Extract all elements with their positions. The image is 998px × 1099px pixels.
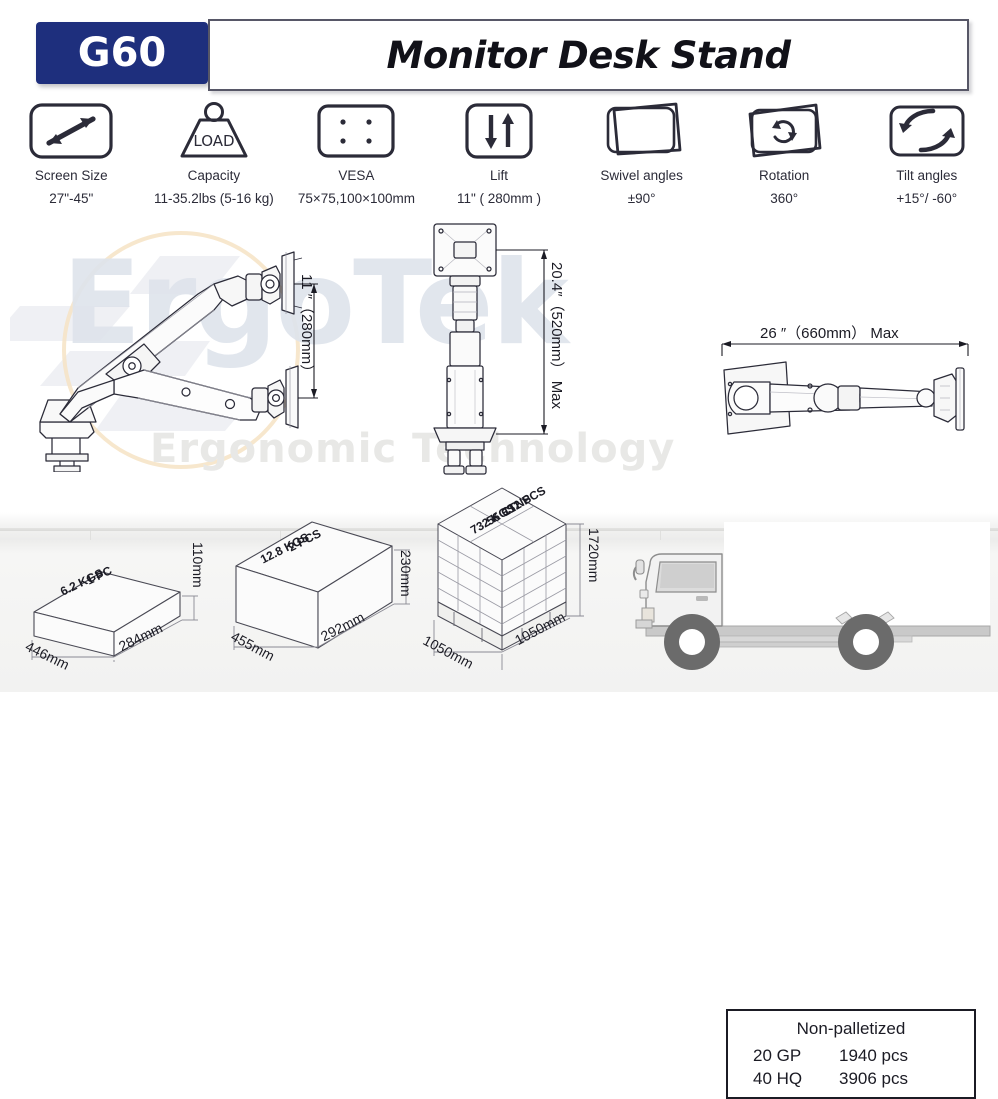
spec-label: Capacity <box>188 168 241 183</box>
rotation-360-icon <box>736 100 832 162</box>
model-badge: G60 <box>36 22 208 84</box>
title-bar: Monitor Desk Stand <box>208 19 969 91</box>
container-loading-table: Non-palletized 20 GP 1940 pcs 40 HQ 3906… <box>726 1009 976 1099</box>
specification-row: Screen Size 27"-45" LOAD Capacity 11-35.… <box>0 100 998 218</box>
spec-label: VESA <box>338 168 374 183</box>
container-title: Non-palletized <box>797 1019 906 1039</box>
model-number: G60 <box>78 30 167 76</box>
table-row: 40 HQ 3906 pcs <box>753 1069 949 1089</box>
spec-value: 11-35.2lbs (5-16 kg) <box>154 191 274 206</box>
page-title: Monitor Desk Stand <box>387 34 791 77</box>
master-height: 230mm <box>398 550 414 610</box>
container-type: 40 HQ <box>753 1069 827 1089</box>
vesa-plate-icon <box>310 100 402 162</box>
top-view-drawing <box>700 340 990 460</box>
swivel-angles-icon <box>594 100 690 162</box>
screen-diagonal-arrow-icon <box>28 100 114 162</box>
spec-item-rotation: Rotation 360° <box>713 100 856 218</box>
lift-up-down-arrows-icon <box>456 100 542 162</box>
carton-height: 110mm <box>190 542 206 602</box>
packaging-section: 1 PC 6.2 KGS 446mm 284mm 110mm 2 PCS 12.… <box>0 480 998 692</box>
pallet-height: 1720mm <box>586 528 602 608</box>
spec-value: ±90° <box>628 191 656 206</box>
spec-label: Screen Size <box>35 168 108 183</box>
table-row: 20 GP 1940 pcs <box>753 1046 949 1066</box>
spec-value: 75×75,100×100mm <box>298 191 415 206</box>
dimension-lift: 11 ″（280mm） <box>296 274 317 404</box>
side-view-drawing <box>18 222 328 472</box>
front-view-drawing <box>398 220 598 476</box>
spec-label: Rotation <box>759 168 809 183</box>
page-header: G60 Monitor Desk Stand <box>0 0 998 96</box>
container-qty: 3906 pcs <box>839 1069 949 1089</box>
delivery-truck-icon <box>616 522 998 682</box>
tilt-angles-icon <box>881 100 973 162</box>
spec-value: 360° <box>770 191 798 206</box>
spec-value: 27"-45" <box>49 191 93 206</box>
spec-label: Swivel angles <box>600 168 683 183</box>
spec-value: +15°/ -60° <box>896 191 957 206</box>
spec-label: Lift <box>490 168 508 183</box>
spec-item-screen-size: Screen Size 27"-45" <box>0 100 143 218</box>
spec-item-vesa: VESA 75×75,100×100mm <box>285 100 428 218</box>
spec-item-swivel-angles: Swivel angles ±90° <box>570 100 713 218</box>
spec-item-lift: Lift 11" ( 280mm ) <box>428 100 571 218</box>
load-icon-text: LOAD <box>193 132 234 150</box>
spec-label: Tilt angles <box>896 168 957 183</box>
load-weight-icon: LOAD <box>168 100 260 162</box>
dimension-height: 20.4″（520mm） Max <box>546 262 567 462</box>
product-drawings: 11 ″（280mm） <box>0 222 998 482</box>
spec-item-tilt-angles: Tilt angles +15°/ -60° <box>855 100 998 218</box>
spec-item-capacity: LOAD Capacity 11-35.2lbs (5-16 kg) <box>143 100 286 218</box>
spec-value: 11" ( 280mm ) <box>457 191 541 206</box>
container-qty: 1940 pcs <box>839 1046 949 1066</box>
pallet-stack-drawing <box>424 484 634 674</box>
container-type: 20 GP <box>753 1046 827 1066</box>
